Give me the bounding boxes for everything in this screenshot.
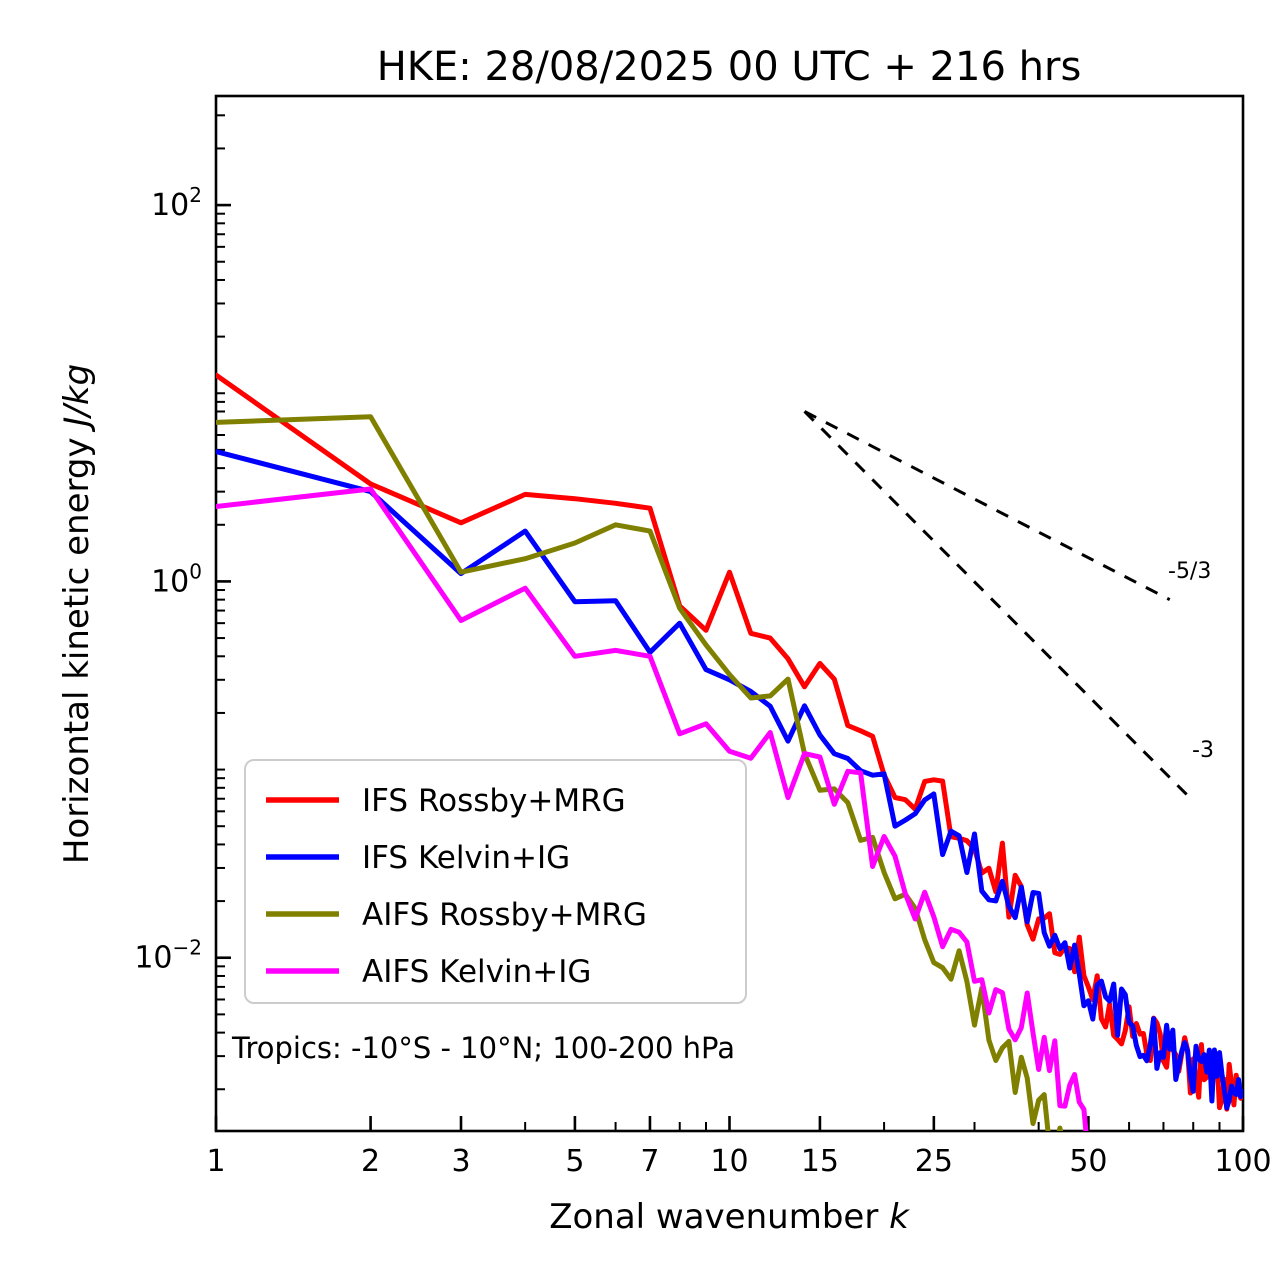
- x-tick-label: 3: [451, 1144, 470, 1179]
- x-tick-label: 7: [640, 1144, 659, 1179]
- legend-label-1: IFS Kelvin+IG: [362, 840, 570, 876]
- legend: IFS Rossby+MRGIFS Kelvin+IGAIFS Rossby+M…: [245, 760, 746, 1003]
- y-tick-label: 10−2: [134, 936, 202, 976]
- x-tick-label: 15: [801, 1144, 839, 1179]
- page-title: HKE: 28/08/2025 00 UTC + 216 hrs: [377, 44, 1082, 90]
- x-axis-ticks: 1235710152550100: [206, 1116, 1271, 1179]
- x-axis-label: Zonal wavenumber k: [549, 1197, 910, 1237]
- slope-line-n5n3: [805, 411, 1170, 599]
- slope-label: -3: [1192, 738, 1214, 763]
- hke-spectrum-chart: HKE: 28/08/2025 00 UTC + 216 hrs 1235710…: [0, 0, 1280, 1288]
- reference-slope-labels: -5/3-3: [1168, 559, 1214, 763]
- x-tick-label: 25: [915, 1144, 953, 1179]
- region-annotation: Tropics: -10°S - 10°N; 100-200 hPa: [231, 1031, 735, 1065]
- x-tick-label: 5: [565, 1144, 584, 1179]
- legend-label-0: IFS Rossby+MRG: [362, 783, 626, 819]
- slope-label: -5/3: [1168, 559, 1211, 584]
- x-tick-label: 1: [206, 1144, 225, 1179]
- x-tick-label: 50: [1069, 1144, 1107, 1179]
- y-tick-label: 102: [151, 183, 202, 223]
- x-tick-label: 100: [1214, 1144, 1271, 1179]
- legend-label-2: AIFS Rossby+MRG: [362, 897, 647, 933]
- slope-line-n3: [805, 411, 1194, 801]
- x-tick-label: 2: [361, 1144, 380, 1179]
- y-tick-label: 100: [151, 559, 202, 599]
- legend-label-3: AIFS Kelvin+IG: [362, 954, 591, 990]
- y-axis-label: Horizontal kinetic energy J/kg: [57, 364, 97, 864]
- x-tick-label: 10: [710, 1144, 748, 1179]
- reference-slope-lines: [805, 411, 1194, 801]
